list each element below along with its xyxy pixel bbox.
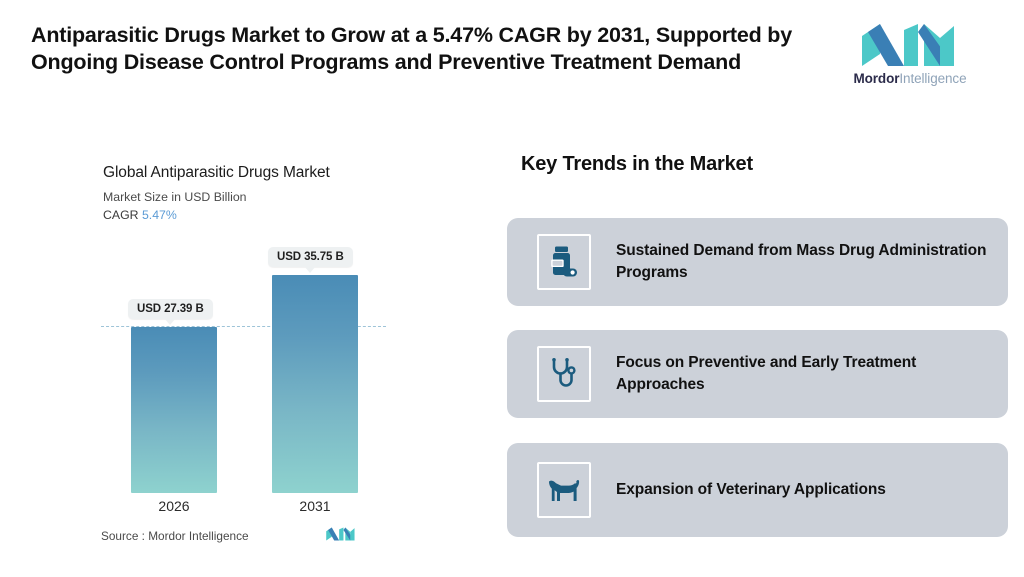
infographic-page: Antiparasitic Drugs Market to Grow at a … [0,0,1024,577]
trend-icon-box-1 [537,234,591,290]
key-trends-heading: Key Trends in the Market [521,153,753,176]
trend-card-text-3: Expansion of Veterinary Applications [616,479,886,501]
trend-card-text-1: Sustained Demand from Mass Drug Administ… [616,240,1008,284]
data-label-2031: USD 35.75 B [268,247,353,267]
trend-card-2[interactable]: Focus on Preventive and Early Treatment … [507,330,1008,418]
trend-card-text-2: Focus on Preventive and Early Treatment … [616,352,1008,396]
key-trends-panel: Key Trends in the Market Sustained Deman… [507,145,1008,545]
trend-icon-box-3 [537,462,591,518]
page-title: Antiparasitic Drugs Market to Grow at a … [31,22,811,76]
bar-2031 [272,275,358,493]
x-axis-label-2026: 2026 [131,498,217,514]
stethoscope-icon [550,358,578,390]
chart-plot-area: USD 27.39 B USD 35.75 B 2026 2031 [0,150,470,570]
chart-source: Source : Mordor Intelligence [101,529,249,543]
brand-suffix: Intelligence [899,71,966,86]
brand-logo: MordorIntelligence [840,22,980,94]
trend-card-3[interactable]: Expansion of Veterinary Applications [507,443,1008,537]
mordor-m-logo-icon [858,22,962,68]
x-axis-label-2031: 2031 [272,498,358,514]
data-label-2026: USD 27.39 B [128,299,213,319]
bar-2026 [131,327,217,493]
dog-icon [548,477,580,503]
market-size-chart: Global Antiparasitic Drugs Market Market… [0,150,470,570]
mordor-m-logo-small-icon [325,526,357,542]
pill-bottle-icon [550,246,578,278]
brand-logo-text: MordorIntelligence [853,71,966,86]
trend-card-1[interactable]: Sustained Demand from Mass Drug Administ… [507,218,1008,306]
trend-icon-box-2 [537,346,591,402]
brand-name: Mordor [853,71,899,86]
